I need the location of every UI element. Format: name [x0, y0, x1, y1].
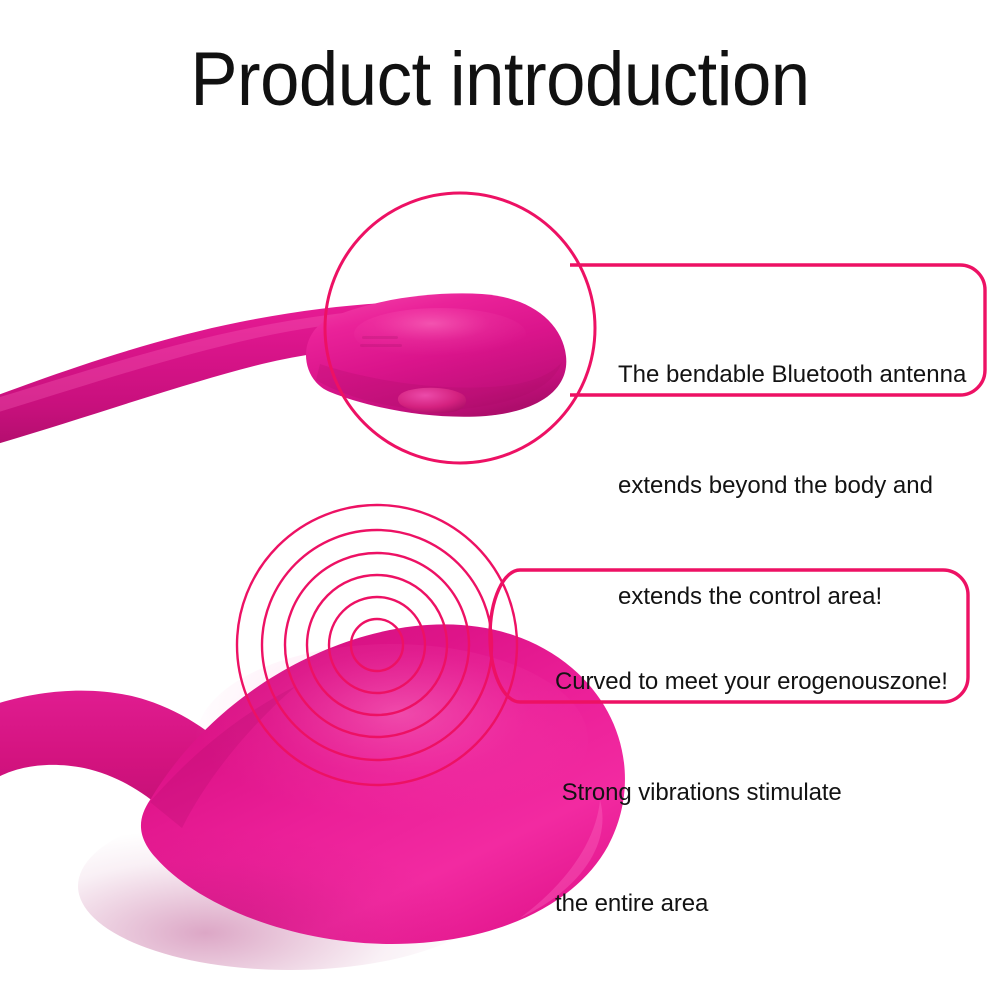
callout-antenna-line-2: extends beyond the body and — [618, 467, 985, 504]
callout-antenna-line-1: The bendable Bluetooth antenna — [618, 356, 985, 393]
callout-curve: Curved to meet your erogenouszone! Stron… — [503, 568, 968, 704]
product-introduction-page: Product introduction — [0, 0, 1000, 1000]
callout-curve-line-1: Curved to meet your erogenouszone! — [555, 663, 968, 700]
vibration-rings — [237, 505, 517, 785]
callout-antenna: The bendable Bluetooth antenna extends b… — [585, 264, 985, 396]
antenna-highlight-circle — [325, 193, 595, 463]
callout-curve-line-2: Strong vibrations stimulate — [555, 774, 968, 811]
callout-curve-line-3: the entire area — [555, 885, 968, 922]
